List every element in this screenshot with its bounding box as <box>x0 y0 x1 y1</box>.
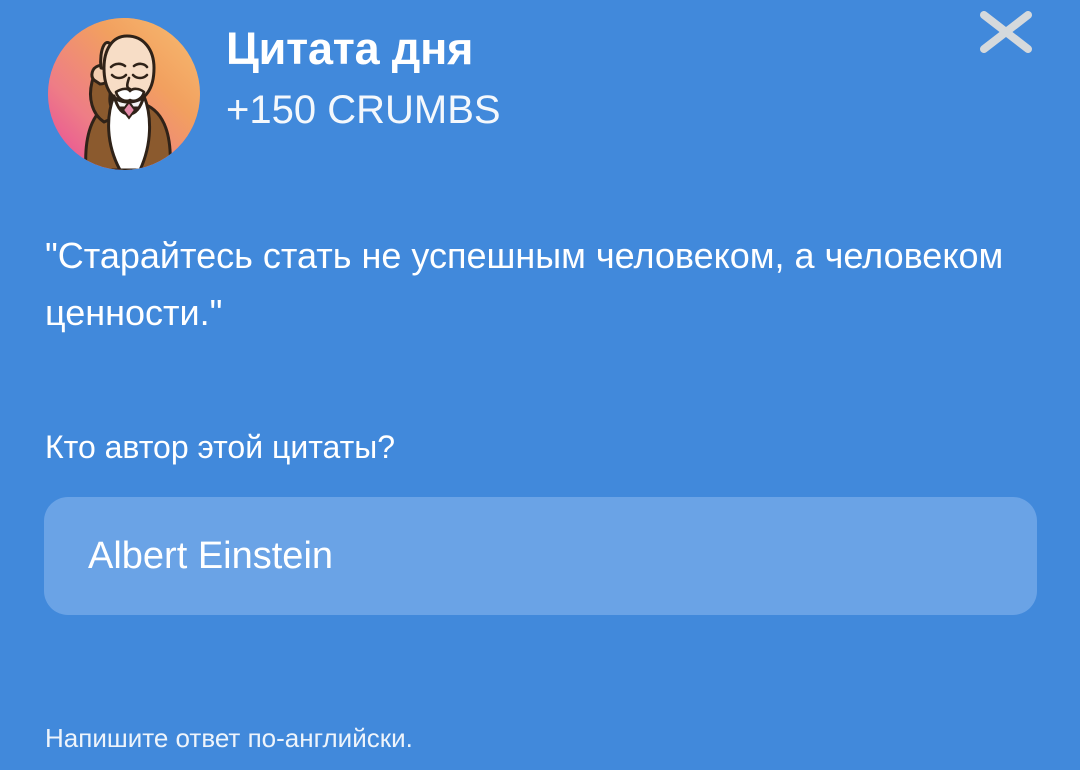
close-icon <box>979 11 1033 53</box>
quote-text: "Старайтесь стать не успешным человеком,… <box>45 228 1020 342</box>
answer-input-value: Albert Einstein <box>88 537 333 575</box>
answer-input[interactable]: Albert Einstein <box>44 497 1037 615</box>
avatar <box>48 18 200 170</box>
header-text-block: Цитата дня +150 CRUMBS <box>226 18 501 130</box>
answer-hint: Напишите ответ по-английски. <box>45 722 413 755</box>
card-header: Цитата дня +150 CRUMBS <box>48 18 501 170</box>
page-title: Цитата дня <box>226 26 501 72</box>
reward-badge: +150 CRUMBS <box>226 90 501 130</box>
close-button[interactable] <box>978 8 1034 56</box>
wise-old-man-icon <box>48 18 200 170</box>
question-text: Кто автор этой цитаты? <box>45 425 395 470</box>
